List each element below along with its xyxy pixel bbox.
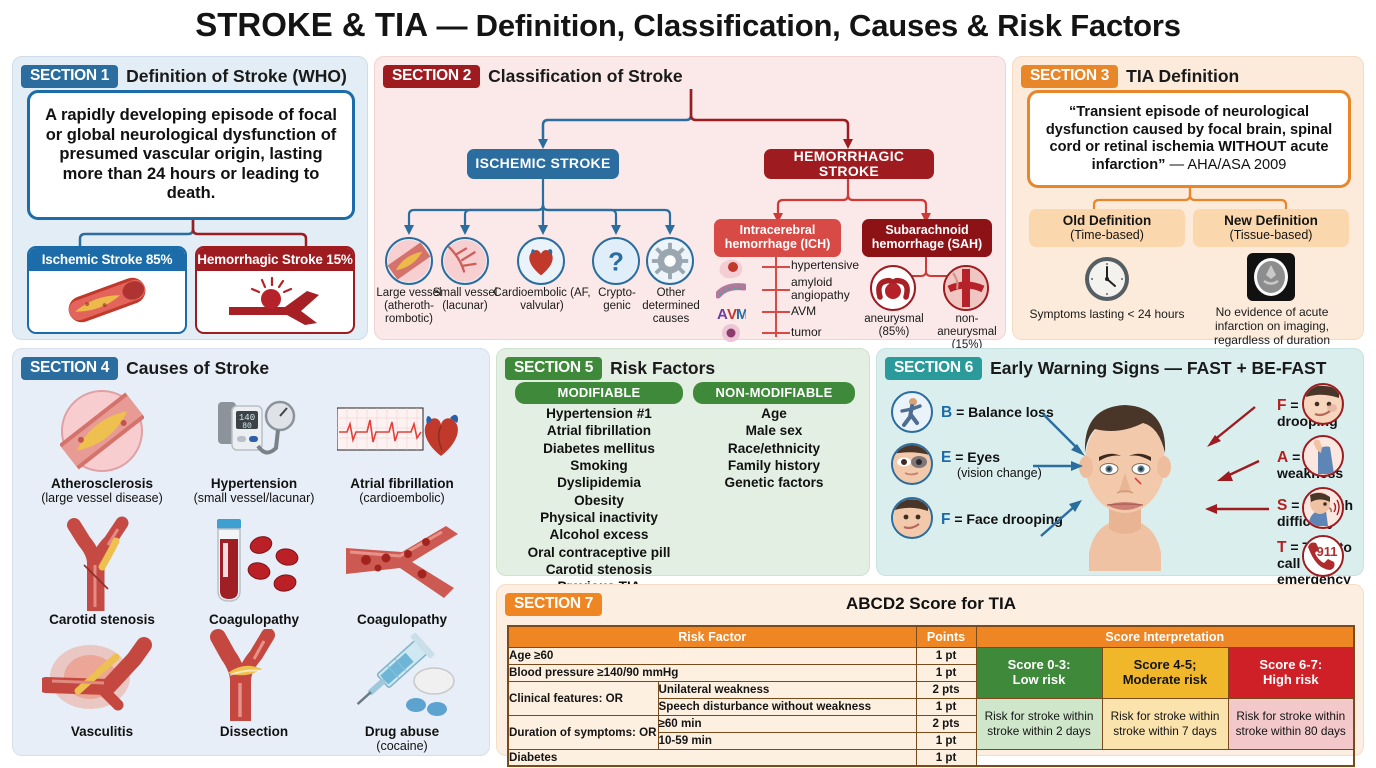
section-5-badge: SECTION 5 — [505, 357, 602, 380]
row-factor: Duration of symptoms: OR — [508, 715, 658, 749]
ecg-heart-icon — [327, 385, 477, 477]
svg-text:M: M — [736, 306, 746, 323]
risk-item: Male sex — [693, 422, 855, 439]
cause-coagulopathy-2: Coagulopathy — [327, 509, 477, 628]
row-points: 1 pt — [916, 732, 976, 749]
ich-node: Intracerebral hemorrhage (ICH) — [714, 219, 841, 257]
who-definition-box: A rapidly developing episode of focal or… — [27, 90, 355, 220]
risk-item: Diabetes mellitus — [507, 440, 691, 457]
cause-name: Atrial fibrillation — [327, 477, 477, 492]
tia-definition-box: “Transient episode of neurological dysfu… — [1027, 90, 1351, 188]
blood-tube-rbc-icon — [179, 509, 329, 613]
fast-arrows-right — [1177, 391, 1287, 561]
risk-item: Oral contraceptive pill — [507, 544, 691, 561]
ischemic-stroke-node: ISCHEMIC STROKE — [467, 149, 619, 179]
old-definition-title: Old Definition — [1029, 213, 1185, 228]
inflamed-vessel-icon — [27, 625, 177, 725]
walking-person-icon — [891, 391, 933, 433]
cause-name: Vasculitis — [27, 725, 177, 740]
ich-cause-tumor: tumor — [791, 326, 822, 339]
row-sub: 10-59 min — [658, 732, 916, 749]
interp-high: Score 6-7: High risk — [1228, 647, 1354, 698]
modifiable-risk-list: Hypertension #1 Atrial fibrillation Diab… — [507, 405, 691, 596]
section-1-badge: SECTION 1 — [21, 65, 118, 88]
table-row: Diabetes 1 pt — [508, 749, 1354, 766]
befast-key: F — [941, 511, 950, 528]
dissected-artery-icon — [179, 625, 329, 725]
fast-key: T — [1277, 539, 1286, 556]
row-points: 1 pt — [916, 647, 976, 664]
interp-moderate: Score 4-5; Moderate risk — [1102, 647, 1228, 698]
section-6-panel: SECTION 6Early Warning Signs — FAST + BE… — [876, 348, 1364, 576]
risk-item: Hypertension #1 — [507, 405, 691, 422]
interp-risk: Moderate risk — [1103, 673, 1228, 688]
cause-name: Atherosclerosis — [27, 477, 177, 492]
risk-item: Family history — [693, 457, 855, 474]
old-definition-note: Symptoms lasting < 24 hours — [1027, 307, 1187, 321]
phone-911-icon: 911 — [1302, 535, 1344, 577]
who-definition-text: A rapidly developing episode of focal or… — [40, 106, 342, 204]
nonmodifiable-header: NON-MODIFIABLE — [693, 382, 855, 404]
new-definition-pill: New Definition (Tissue-based) — [1193, 209, 1349, 247]
cause-drug-abuse: Drug abuse (cocaine) — [327, 625, 477, 754]
hemorrhagic-stroke-label: Hemorrhagic Stroke 15% — [197, 248, 353, 271]
heart-icon — [517, 237, 565, 285]
cause-carotid-stenosis: Carotid stenosis — [27, 509, 177, 628]
sah-node: Subarachnoid hemorrhage (SAH) — [862, 219, 992, 257]
row-points: 1 pt — [916, 698, 976, 715]
section-3-badge: SECTION 3 — [1021, 65, 1118, 88]
section-7-panel: SECTION 7 ABCD2 Score for TIA Risk Facto… — [496, 584, 1364, 756]
section-4-title: Causes of Stroke — [126, 358, 269, 379]
title-bold: STROKE & TIA — [195, 6, 428, 43]
section-5-panel: SECTION 5Risk Factors MODIFIABLE NON-MOD… — [496, 348, 870, 576]
section-6-title: Early Warning Signs — FAST + BE-FAST — [990, 358, 1326, 379]
section-6-badge: SECTION 6 — [885, 357, 982, 380]
row-sub: Unilateral weakness — [658, 681, 916, 698]
section-3-title: TIA Definition — [1126, 66, 1239, 87]
cause-sub: (large vessel disease) — [27, 492, 177, 506]
eye-vision-icon — [891, 443, 933, 485]
gear-icon — [646, 237, 694, 285]
section-3-header: SECTION 3TIA Definition — [1021, 65, 1239, 88]
ischemic-stroke-box: Ischemic Stroke 85% — [27, 246, 187, 334]
tia-attribution: — AHA/ASA 2009 — [1165, 157, 1286, 173]
ich-cause-amyloid: amyloid angiopathy — [791, 276, 869, 302]
risk-item: Alcohol excess — [507, 526, 691, 543]
fast-key: S — [1277, 497, 1287, 514]
syringe-pills-icon — [327, 625, 477, 725]
new-definition-title: New Definition — [1193, 213, 1349, 228]
risk-item: Carotid stenosis — [507, 561, 691, 578]
ischemic-stroke-label: Ischemic Stroke 85% — [29, 248, 185, 271]
leaf-label-small-vessel: Small vessel (lacunar) — [431, 287, 499, 313]
section-2-title: Classification of Stroke — [488, 66, 683, 87]
befast-key: E — [941, 449, 951, 466]
cause-name: Drug abuse — [327, 725, 477, 740]
row-factor: Age ≥60 — [508, 647, 916, 664]
section-2-panel: SECTION 2Classification of Stroke — [374, 56, 1006, 340]
interp-score: Score 6-7: — [1229, 658, 1354, 673]
col-score-interpretation: Score Interpretation — [976, 626, 1354, 647]
page-title: STROKE & TIA — Definition, Classificatio… — [0, 6, 1376, 44]
risk-item: Smoking — [507, 457, 691, 474]
risk-item: Dyslipidemia — [507, 474, 691, 491]
befast-arrows-left — [995, 394, 1105, 564]
section-1-title: Definition of Stroke (WHO) — [126, 66, 347, 87]
cause-atrial-fibrillation: Atrial fibrillation (cardioembolic) — [327, 385, 477, 506]
risknote-high: Risk for stroke within stroke within 80 … — [1228, 698, 1354, 749]
old-definition-pill: Old Definition (Time-based) — [1029, 209, 1185, 247]
old-definition-sub: (Time-based) — [1029, 228, 1185, 242]
interp-risk: High risk — [1229, 673, 1354, 688]
new-definition-note: No evidence of acute infarction on imagi… — [1191, 305, 1353, 347]
cause-vasculitis: Vasculitis — [27, 625, 177, 740]
section-3-panel: SECTION 3TIA Definition “Transient episo… — [1012, 56, 1364, 340]
hemorrhagic-node-label: HEMORRHAGIC STROKE — [764, 149, 934, 180]
cause-hypertension: 140 80 Hypertension (small vessel/lacuna… — [179, 385, 329, 506]
befast-key: B — [941, 404, 952, 421]
risknote-moderate: Risk for stroke within stroke within 7 d… — [1102, 698, 1228, 749]
abcd2-title: ABCD2 Score for TIA — [497, 594, 1365, 614]
row-factor: Diabetes — [508, 749, 916, 766]
row-sub: Speech disturbance without weakness — [658, 698, 916, 715]
blood-pressure-monitor-icon: 140 80 — [179, 385, 329, 477]
title-rest: — Definition, Classification, Causes & R… — [428, 8, 1181, 43]
fast-key: F — [1277, 397, 1286, 414]
section-2-header: SECTION 2Classification of Stroke — [383, 65, 683, 88]
phone-number-text: 911 — [1317, 544, 1338, 559]
sah-node-label: Subarachnoid hemorrhage (SAH) — [862, 224, 992, 252]
ruptured-vessel-icon — [215, 273, 335, 327]
modifiable-header: MODIFIABLE — [515, 382, 683, 404]
artery-plaque-icon — [385, 237, 433, 285]
cause-sub: (small vessel/lacunar) — [179, 492, 329, 506]
risk-item: Genetic factors — [693, 474, 855, 491]
face-droop-icon — [891, 497, 933, 539]
section-1-panel: SECTION 1Definition of Stroke (WHO) A ra… — [12, 56, 368, 340]
arm-weakness-icon — [1302, 435, 1344, 477]
interp-score: Score 0-3: — [977, 658, 1102, 673]
cause-dissection: Dissection — [179, 625, 329, 740]
nonmodifiable-risk-list: Age Male sex Race/ethnicity Family histo… — [693, 405, 855, 492]
question-mark-icon: ? — [592, 237, 640, 285]
non-aneurysmal-icon — [943, 265, 989, 311]
leaf-label-other-causes: Other determined causes — [638, 287, 704, 326]
interp-score: Score 4-5; — [1103, 658, 1228, 673]
row-points: 1 pt — [916, 664, 976, 681]
risk-item: Atrial fibrillation — [507, 422, 691, 439]
cause-atherosclerosis: Atherosclerosis (large vessel disease) — [27, 385, 177, 506]
cause-sub: (cocaine) — [327, 740, 477, 754]
befast-text: = Eyes — [955, 449, 1000, 465]
section-4-badge: SECTION 4 — [21, 357, 118, 380]
section-5-title: Risk Factors — [610, 358, 715, 379]
cause-name: Dissection — [179, 725, 329, 740]
ich-node-label: Intracerebral hemorrhage (ICH) — [714, 224, 841, 252]
row-points: 2 pts — [916, 681, 976, 698]
section-2-badge: SECTION 2 — [383, 65, 480, 88]
atherosclerotic-vessel-icon — [47, 273, 167, 327]
aneurysm-icon — [870, 265, 916, 311]
fast-key: A — [1277, 449, 1288, 466]
svg-text:?: ? — [608, 249, 624, 277]
risk-item: Obesity — [507, 492, 691, 509]
section-6-header: SECTION 6Early Warning Signs — FAST + BE… — [885, 357, 1326, 380]
interp-risk: Low risk — [977, 673, 1102, 688]
section-5-header: SECTION 5Risk Factors — [505, 357, 715, 380]
small-vessel-icon — [441, 237, 489, 285]
risk-item: Race/ethnicity — [693, 440, 855, 457]
brain-ct-scan-icon — [1247, 253, 1295, 306]
col-risk-factor: Risk Factor — [508, 626, 916, 647]
sah-type-non-aneurysmal: non-aneurysmal (15%) — [927, 313, 1007, 352]
svg-text:80: 80 — [242, 422, 252, 431]
section-4-header: SECTION 4Causes of Stroke — [21, 357, 269, 380]
section-4-panel: SECTION 4Causes of Stroke Atherosclerosi… — [12, 348, 490, 756]
risk-item: Age — [693, 405, 855, 422]
row-factor: Blood pressure ≥140/90 mmHg — [508, 664, 916, 681]
tumor-cell-icon — [719, 323, 743, 348]
interp-low: Score 0-3: Low risk — [976, 647, 1102, 698]
speech-difficulty-icon — [1302, 487, 1344, 529]
section-3-connector — [1085, 188, 1295, 210]
row-points: 2 pts — [916, 715, 976, 732]
table-row: Age ≥60 1 pt Score 0-3: Low risk Score 4… — [508, 647, 1354, 664]
carotid-artery-icon — [27, 509, 177, 613]
risknote-low: Risk for stroke within stroke within 2 d… — [976, 698, 1102, 749]
section-1-header: SECTION 1Definition of Stroke (WHO) — [21, 65, 347, 88]
row-sub: ≥60 min — [658, 715, 916, 732]
ich-cause-avm: AVM — [791, 305, 816, 318]
artery-plaque-circle-icon — [27, 385, 177, 477]
col-points: Points — [916, 626, 976, 647]
ischemic-node-label: ISCHEMIC STROKE — [475, 156, 610, 171]
cause-name: Hypertension — [179, 477, 329, 492]
section-1-connector — [73, 220, 313, 246]
cause-sub: (cardioembolic) — [327, 492, 477, 506]
risk-item: Physical inactivity — [507, 509, 691, 526]
table-header-row: Risk Factor Points Score Interpretation — [508, 626, 1354, 647]
sah-type-aneurysmal: aneurysmal (85%) — [854, 313, 934, 339]
clotted-vessel-icon — [327, 509, 477, 613]
abcd2-table: Risk Factor Points Score Interpretation … — [507, 625, 1355, 767]
hemorrhagic-stroke-node: HEMORRHAGIC STROKE — [764, 149, 934, 179]
ich-cause-hypertensive: hypertensive — [791, 259, 859, 272]
infographic-page: STROKE & TIA — Definition, Classificatio… — [0, 0, 1376, 768]
new-definition-sub: (Tissue-based) — [1193, 228, 1349, 242]
clock-icon — [1083, 255, 1131, 308]
leaf-label-cardioembolic: Cardioembolic (AF, valvular) — [493, 287, 591, 313]
face-droop-portrait-icon — [1302, 383, 1344, 425]
row-factor: Clinical features: OR — [508, 681, 658, 715]
row-points: 1 pt — [916, 749, 976, 766]
cause-coagulopathy-1: Coagulopathy — [179, 509, 329, 628]
hemorrhagic-stroke-box: Hemorrhagic Stroke 15% — [195, 246, 355, 334]
